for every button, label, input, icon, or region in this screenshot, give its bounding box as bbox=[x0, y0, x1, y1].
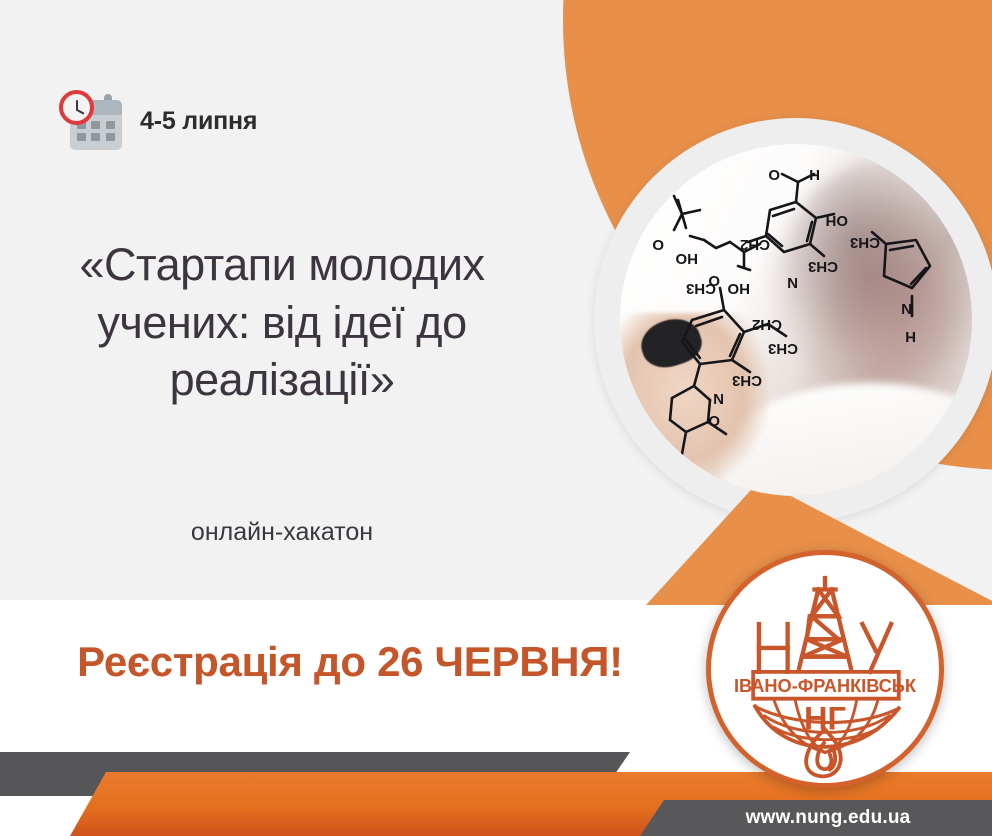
registration-deadline: Реєстрація до 26 ЧЕРВНЯ! bbox=[20, 638, 680, 686]
svg-text:CH2: CH2 bbox=[752, 316, 782, 333]
calendar-day-grid bbox=[77, 121, 116, 141]
event-date-text: 4-5 липня bbox=[140, 107, 257, 136]
chemical-formula-overlay: CH3 O HO O HO CH2 H O OH CH3 N CH3 H N C… bbox=[620, 144, 972, 496]
svg-text:CH3: CH3 bbox=[732, 372, 762, 389]
svg-text:O: O bbox=[708, 412, 720, 429]
university-logo[interactable]: ІВАНО-ФРАНКІВСЬК НГ bbox=[706, 550, 944, 788]
chemistry-photo: CH3 O HO O HO CH2 H O OH CH3 N CH3 H N C… bbox=[620, 144, 972, 496]
svg-text:HO: HO bbox=[727, 280, 750, 297]
website-url[interactable]: www.nung.edu.ua bbox=[728, 807, 911, 829]
svg-text:CH3: CH3 bbox=[768, 340, 798, 357]
svg-text:H: H bbox=[905, 328, 916, 345]
calendar-clock-icon bbox=[58, 90, 124, 152]
svg-text:H: H bbox=[809, 166, 820, 183]
svg-text:N: N bbox=[713, 390, 724, 407]
svg-text:O: O bbox=[768, 166, 780, 183]
promo-poster: CH3 O HO O HO CH2 H O OH CH3 N CH3 H N C… bbox=[0, 0, 992, 836]
svg-text:N: N bbox=[901, 300, 912, 317]
svg-text:CH3: CH3 bbox=[808, 258, 838, 275]
page-title: «Стартапи молодих учених: від ідеї до ре… bbox=[24, 236, 540, 409]
emblem-banner-text: ІВАНО-ФРАНКІВСЬК bbox=[734, 676, 917, 696]
event-date-row: 4-5 липня bbox=[58, 90, 257, 152]
svg-text:O: O bbox=[652, 236, 664, 253]
svg-text:N: N bbox=[787, 274, 798, 291]
website-band[interactable]: www.nung.edu.ua bbox=[640, 800, 992, 836]
svg-text:CH3: CH3 bbox=[850, 234, 880, 251]
svg-text:CH3: CH3 bbox=[686, 280, 716, 297]
svg-text:CH2: CH2 bbox=[740, 236, 770, 253]
event-subtitle: онлайн-хакатон bbox=[24, 518, 540, 547]
clock-icon bbox=[59, 90, 94, 125]
svg-text:CH3: CH3 bbox=[634, 188, 664, 205]
svg-text:OH: OH bbox=[826, 212, 849, 229]
svg-text:HO: HO bbox=[675, 250, 698, 267]
